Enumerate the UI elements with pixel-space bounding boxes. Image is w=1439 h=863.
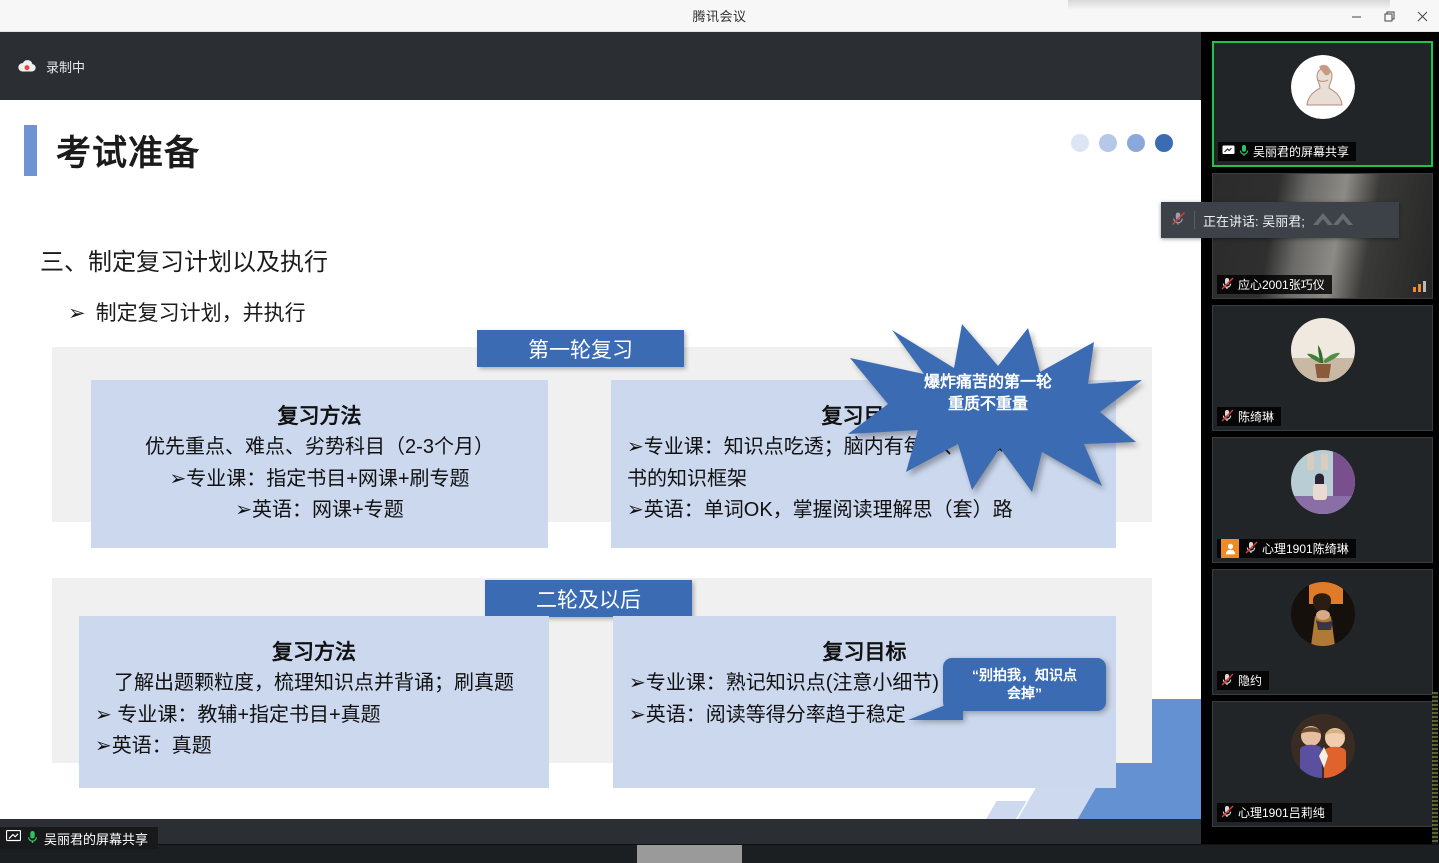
card-review-method-round2: 复习方法 了解出题颗粒度，梳理知识点并背诵；刷真题 ➢ 专业课：教辅+指定书目+… bbox=[79, 616, 549, 788]
app-title: 腾讯会议 bbox=[692, 6, 746, 25]
mic-muted-icon bbox=[1221, 805, 1234, 821]
speech-bubble-line-1: “别拍我，知识点 bbox=[943, 666, 1106, 684]
meeting-body: 录制中 考试准备 三、制定复习计划以及执行 bbox=[0, 32, 1439, 844]
participant-name-row: 陈绮琳 bbox=[1217, 407, 1281, 426]
card-line: ➢ 专业课：教辅+指定书目+真题 bbox=[85, 700, 543, 732]
avatar bbox=[1291, 318, 1355, 382]
avatar bbox=[1291, 55, 1355, 119]
section-tab-1: 第一轮复习 bbox=[477, 330, 684, 367]
title-accent-bar bbox=[24, 125, 37, 176]
avatar bbox=[1291, 714, 1355, 778]
cloud-record-icon bbox=[17, 58, 37, 74]
card-title: 复习方法 bbox=[79, 616, 549, 666]
window-controls bbox=[1340, 0, 1439, 32]
card-line: 优先重点、难点、劣势科目（2-3个月） bbox=[97, 432, 542, 464]
minimize-button[interactable] bbox=[1340, 0, 1373, 32]
progress-dot-3 bbox=[1127, 134, 1145, 152]
participant-name: 陈绮琳 bbox=[1238, 408, 1274, 425]
participant-name-row: 吴丽君的屏幕共享 bbox=[1218, 142, 1356, 161]
speaking-tooltip-text: 正在讲话: 吴丽君; bbox=[1203, 211, 1305, 230]
taskbar-share-text: 吴丽君的屏幕共享 bbox=[44, 829, 148, 848]
mic-on-icon bbox=[27, 830, 38, 847]
speech-bubble-tail bbox=[908, 698, 963, 720]
avatar bbox=[1291, 450, 1355, 514]
screen-share-icon bbox=[1222, 145, 1235, 159]
mic-muted-icon bbox=[1245, 541, 1258, 557]
presentation-slide: 考试准备 三、制定复习计划以及执行 ➢制定复习计划，并执行 第一轮复习 复习方法 bbox=[0, 100, 1201, 819]
progress-dot-2 bbox=[1099, 134, 1117, 152]
card-line: 了解出题颗粒度，梳理知识点并背诵；刷真题 bbox=[85, 668, 543, 700]
mic-muted-icon bbox=[1171, 211, 1186, 229]
progress-dot-4 bbox=[1155, 134, 1173, 152]
starburst-callout: 爆炸痛苦的第一轮 重质不重量 bbox=[832, 322, 1144, 492]
chevron-up-icon bbox=[1311, 211, 1357, 229]
participant-name: 隐约 bbox=[1238, 672, 1262, 689]
speech-bubble-callout: “别拍我，知识点 会掉” bbox=[943, 658, 1106, 711]
participant-strip[interactable]: 吴丽君的屏幕共享 应心2001张巧仪 bbox=[1201, 32, 1439, 844]
tooltip-divider bbox=[1194, 211, 1195, 229]
speech-bubble-line-2: 会掉” bbox=[943, 684, 1106, 702]
starburst-line-2: 重质不重量 bbox=[832, 394, 1144, 416]
slide-heading: 三、制定复习计划以及执行 bbox=[40, 242, 328, 277]
recording-bar: 录制中 bbox=[0, 32, 1201, 100]
participant-name-row: 应心2001张巧仪 bbox=[1217, 275, 1332, 294]
avatar bbox=[1291, 582, 1355, 646]
chevron-bullet-icon: ➢ bbox=[68, 302, 86, 325]
slide-title: 考试准备 bbox=[56, 125, 200, 176]
participant-tile[interactable]: 陈绮琳 bbox=[1212, 305, 1433, 431]
card-line: ➢英语：真题 bbox=[85, 731, 543, 763]
mic-muted-icon bbox=[1221, 673, 1234, 689]
shared-screen-stage: 录制中 考试准备 三、制定复习计划以及执行 bbox=[0, 32, 1201, 844]
participant-tile[interactable]: 心理1901陈绮琳 bbox=[1212, 437, 1433, 563]
progress-dot-1 bbox=[1071, 134, 1089, 152]
tencent-meeting-window: 腾讯会议 bbox=[0, 0, 1439, 863]
mic-muted-icon bbox=[1221, 409, 1234, 425]
slide-bullet-text: 制定复习计划，并执行 bbox=[96, 302, 306, 325]
mic-on-icon bbox=[1239, 144, 1249, 160]
slide-progress-dots bbox=[1071, 134, 1173, 152]
taskbar-active-window-indicator[interactable] bbox=[637, 845, 742, 863]
starburst-line-1: 爆炸痛苦的第一轮 bbox=[832, 372, 1144, 394]
participant-strip-scrollbar[interactable] bbox=[1432, 692, 1438, 844]
card-line: ➢英语：单词OK，掌握阅读理解思（套）路 bbox=[617, 495, 1110, 527]
taskbar[interactable]: 吴丽君的屏幕共享 bbox=[0, 844, 1439, 863]
screen-share-icon bbox=[6, 830, 21, 846]
participant-tile[interactable]: 心理1901吕莉纯 bbox=[1212, 701, 1433, 827]
title-bar: 腾讯会议 bbox=[0, 0, 1439, 32]
taskbar-share-label[interactable]: 吴丽君的屏幕共享 bbox=[0, 827, 158, 849]
card-title: 复习方法 bbox=[91, 380, 548, 430]
participant-name: 吴丽君的屏幕共享 bbox=[1253, 143, 1349, 160]
signal-strength-icon bbox=[1413, 281, 1426, 292]
participant-name-row: 隐约 bbox=[1217, 671, 1269, 690]
participant-name: 心理1901吕莉纯 bbox=[1238, 804, 1325, 821]
participant-name-row: 心理1901陈绮琳 bbox=[1217, 539, 1356, 558]
recording-label: 录制中 bbox=[46, 57, 85, 76]
slide-bullet: ➢制定复习计划，并执行 bbox=[68, 297, 306, 327]
close-button[interactable] bbox=[1406, 0, 1439, 32]
restore-button[interactable] bbox=[1373, 0, 1406, 32]
participant-name: 应心2001张巧仪 bbox=[1238, 276, 1325, 293]
card-line: ➢英语：网课+专题 bbox=[97, 495, 542, 527]
section-tab-2: 二轮及以后 bbox=[485, 580, 692, 617]
participant-tile[interactable]: 吴丽君的屏幕共享 bbox=[1212, 41, 1433, 167]
card-review-method-round1: 复习方法 优先重点、难点、劣势科目（2-3个月） ➢专业课：指定书目+网课+刷专… bbox=[91, 380, 548, 548]
participant-name-row: 心理1901吕莉纯 bbox=[1217, 803, 1332, 822]
slide-title-row: 考试准备 bbox=[24, 125, 200, 176]
participant-name: 心理1901陈绮琳 bbox=[1262, 540, 1349, 557]
mic-muted-icon bbox=[1221, 277, 1234, 293]
starburst-text: 爆炸痛苦的第一轮 重质不重量 bbox=[832, 372, 1144, 415]
host-person-icon bbox=[1221, 539, 1239, 558]
speaking-tooltip: 正在讲话: 吴丽君; bbox=[1161, 202, 1399, 238]
participant-tile[interactable]: 隐约 bbox=[1212, 569, 1433, 695]
card-line: ➢专业课：指定书目+网课+刷专题 bbox=[97, 464, 542, 496]
